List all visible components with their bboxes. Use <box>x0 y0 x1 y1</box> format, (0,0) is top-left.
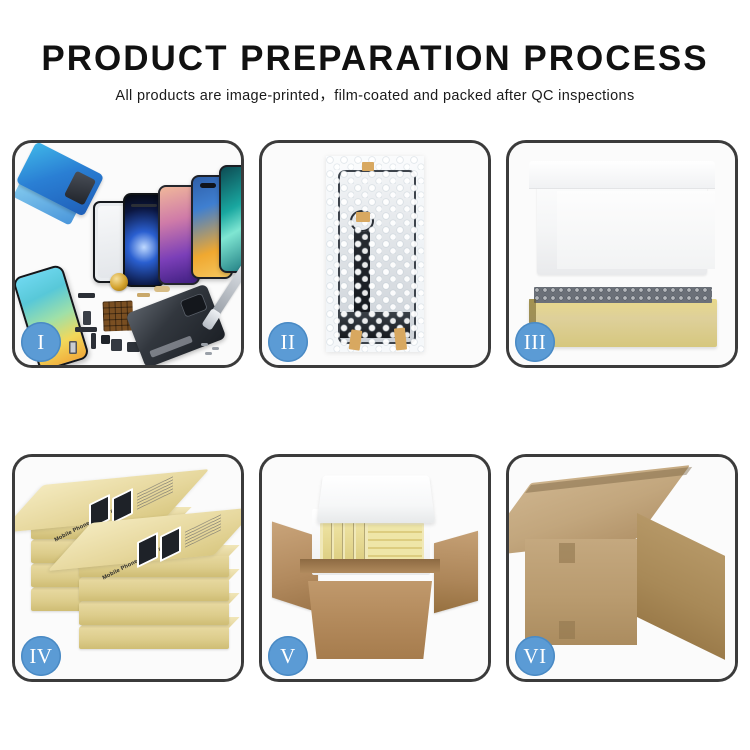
styrofoam-lid-icon <box>317 475 436 523</box>
small-screws-icon <box>201 343 227 357</box>
carton-loading-illustration <box>272 475 478 663</box>
carton-flap-right-icon <box>434 531 478 614</box>
carton-body-icon <box>308 581 432 659</box>
adhesive-tape-tab-icon <box>349 329 363 350</box>
kraft-box-icon <box>79 627 229 649</box>
process-steps-grid: I II <box>12 140 738 680</box>
part-icon <box>137 293 150 297</box>
inner-box-illustration <box>523 159 721 347</box>
step-panel-1: I <box>12 140 244 368</box>
part-icon <box>111 339 122 351</box>
part-icon <box>91 333 96 349</box>
part-icon <box>83 311 91 325</box>
kraft-box-icon <box>79 579 229 601</box>
phone-display-teal-wave-icon <box>219 165 241 273</box>
step-badge-4: IV <box>21 636 61 676</box>
adhesive-tape-tab-icon <box>394 327 407 350</box>
carton-side-icon <box>637 513 725 660</box>
carton-rim-icon <box>300 559 440 573</box>
part-icon <box>69 341 77 354</box>
part-icon <box>75 327 97 332</box>
product-preparation-infographic: PRODUCT PREPARATION PROCESS All products… <box>0 0 750 750</box>
step-panel-6: VI <box>506 454 738 682</box>
header: PRODUCT PREPARATION PROCESS All products… <box>0 38 750 106</box>
bubble-wrap-bag-icon <box>326 156 424 352</box>
adhesive-tape-tab-icon <box>362 162 374 171</box>
sealed-carton-illustration <box>525 483 725 653</box>
carton-front-icon <box>525 539 637 645</box>
display-module-icon <box>338 170 416 344</box>
foam-sheet-icon <box>557 191 715 269</box>
step-badge-1: I <box>21 322 61 362</box>
kraft-box-stack-illustration: Mobile Phone Spare Parts Mobile Phone Sp… <box>27 479 235 663</box>
step-badge-6: VI <box>515 636 555 676</box>
step-panel-2: II <box>259 140 491 368</box>
tape-tab-icon <box>559 543 575 563</box>
gold-coil-icon <box>110 273 128 291</box>
step-panel-4: Mobile Phone Spare Parts Mobile Phone Sp… <box>12 454 244 682</box>
tape-tab-icon <box>559 621 575 639</box>
part-icon <box>78 293 95 298</box>
step-badge-2: II <box>268 322 308 362</box>
adhesive-tape-tab-icon <box>356 212 370 222</box>
white-foam-lid-icon <box>537 163 707 275</box>
step-badge-5: V <box>268 636 308 676</box>
step-panel-3: III <box>506 140 738 368</box>
step-panel-5: V <box>259 454 491 682</box>
part-icon <box>154 286 170 292</box>
part-icon <box>101 335 110 344</box>
kraft-tray-icon <box>529 299 717 347</box>
page-title: PRODUCT PREPARATION PROCESS <box>0 38 750 80</box>
step-badge-3: III <box>515 322 555 362</box>
page-subtitle: All products are image-printed，film-coat… <box>0 86 750 106</box>
kraft-box-icon <box>79 603 229 625</box>
flex-cable-icon <box>354 218 370 328</box>
